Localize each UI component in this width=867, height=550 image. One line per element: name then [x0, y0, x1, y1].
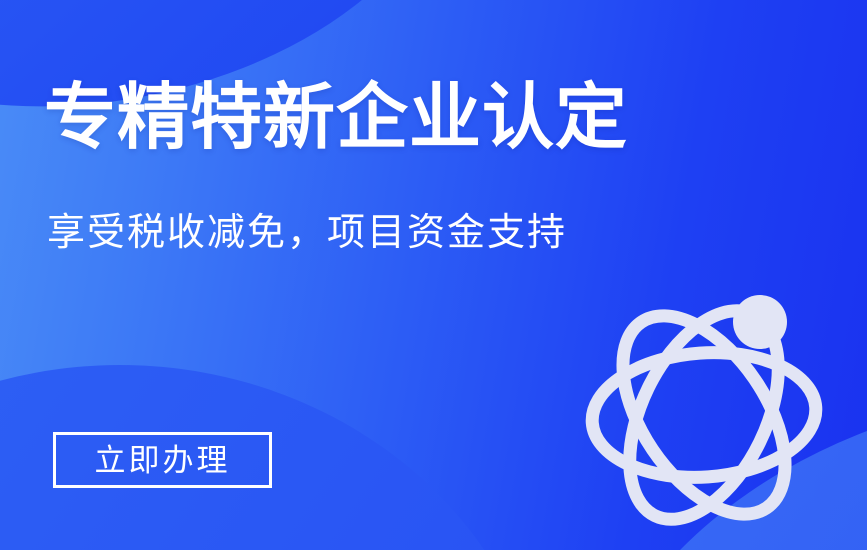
atom-electron-dot [733, 295, 787, 349]
promo-banner: 专精特新企业认定 享受税收减免，项目资金支持 立即办理 [0, 0, 867, 550]
atom-icon [574, 282, 854, 532]
banner-subtitle: 享受税收减免，项目资金支持 [47, 214, 567, 252]
apply-now-button[interactable]: 立即办理 [53, 432, 272, 488]
page-title: 专精特新企业认定 [44, 82, 628, 154]
